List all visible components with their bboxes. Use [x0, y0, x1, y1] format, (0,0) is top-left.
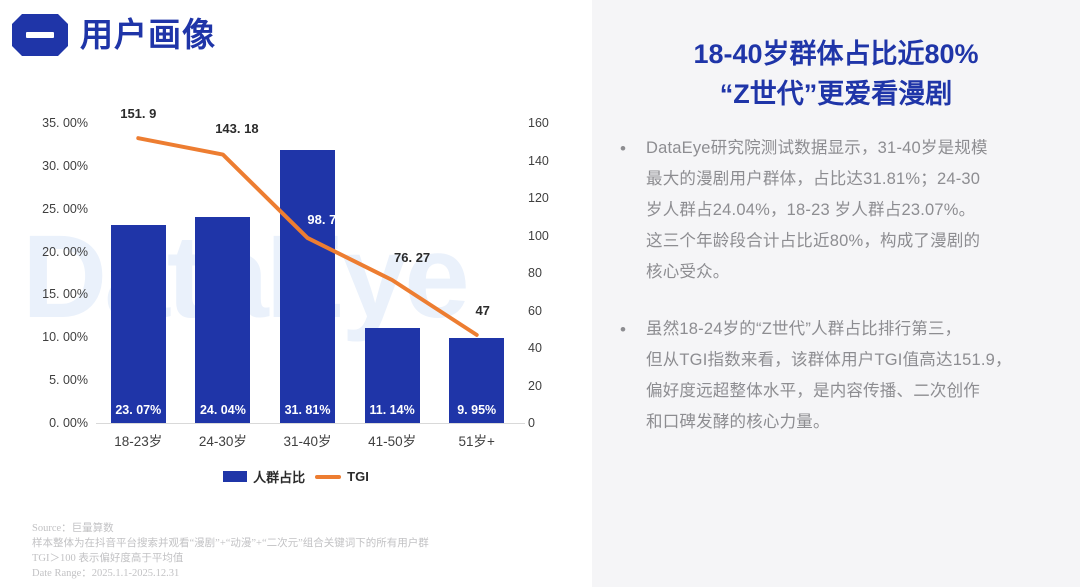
insight-bullet-line: 最大的漫剧用户群体，占比达31.81%；24-30	[646, 164, 1064, 195]
slide-root: 用户画像 DataEye 0. 00%5. 00%10. 00%15. 00%2…	[0, 0, 1080, 587]
chart-line-label: 98. 71	[307, 212, 343, 227]
chart-legend: 人群占比 TGI	[0, 467, 592, 486]
dash-badge-icon	[12, 14, 68, 56]
chart-baseline	[96, 423, 525, 424]
y-axis-right-tick: 20	[528, 379, 542, 393]
y-axis-left-tick: 35. 00%	[42, 116, 88, 130]
chart-line-path	[138, 138, 476, 335]
page-title: 用户画像	[80, 14, 216, 56]
insight-bullet-line: 偏好度远超整体水平，是内容传播、二次创作	[646, 376, 1064, 407]
legend-label-line: TGI	[347, 469, 369, 484]
y-axis-left-tick: 25. 00%	[42, 202, 88, 216]
footnote-line: Source：巨量算数	[32, 521, 572, 536]
footnote-line: Date Range：2025.1.1-2025.12.31	[32, 566, 572, 581]
legend-label-bars: 人群占比	[253, 467, 305, 486]
x-axis-tick-label: 18-23岁	[114, 430, 162, 450]
y-axis-right-tick: 0	[528, 416, 535, 430]
x-axis-tick-label: 51岁+	[458, 430, 494, 450]
insight-bullet-line: DataEye研究院测试数据显示，31-40岁是规模	[646, 133, 1064, 164]
chart-y-axis-right: 020406080100120140160	[528, 123, 578, 423]
chart-plot-area: 23. 07%24. 04%31. 81%11. 14%9. 95%151. 9…	[96, 123, 519, 423]
y-axis-right-tick: 40	[528, 341, 542, 355]
insight-bullet-line: 这三个年龄段合计占比近80%，构成了漫剧的	[646, 226, 1064, 257]
insight-bullet-line: 核心受众。	[646, 257, 1064, 288]
insight-bullet-line: 和口碑发酵的核心力量。	[646, 407, 1064, 438]
y-axis-right-tick: 140	[528, 154, 549, 168]
bullet-dot-icon: •	[616, 314, 646, 438]
insight-panel: 18-40岁群体占比近80% “Z世代”更爱看漫剧 •DataEye研究院测试数…	[592, 0, 1080, 587]
insight-bullet-line: 但从TGI指数来看，该群体用户TGI值高达151.9，	[646, 345, 1064, 376]
insight-title-line-2: “Z世代”更爱看漫剧	[592, 74, 1080, 114]
chart-line-label: 151. 9	[120, 106, 156, 121]
insight-title: 18-40岁群体占比近80% “Z世代”更爱看漫剧	[592, 34, 1080, 114]
insight-bullet-line: 虽然18-24岁的“Z世代”人群占比排行第三，	[646, 314, 1064, 345]
y-axis-right-tick: 60	[528, 304, 542, 318]
insight-bullet-text: 虽然18-24岁的“Z世代”人群占比排行第三，但从TGI指数来看，该群体用户TG…	[646, 314, 1064, 438]
insight-bullet: •DataEye研究院测试数据显示，31-40岁是规模最大的漫剧用户群体，占比达…	[616, 133, 1064, 288]
y-axis-left-tick: 10. 00%	[42, 330, 88, 344]
x-axis-tick-label: 31-40岁	[283, 430, 331, 450]
y-axis-right-tick: 160	[528, 116, 549, 130]
insight-bullet-list: •DataEye研究院测试数据显示，31-40岁是规模最大的漫剧用户群体，占比达…	[616, 133, 1064, 464]
x-axis-tick-label: 41-50岁	[368, 430, 416, 450]
chart-container: DataEye 0. 00%5. 00%10. 00%15. 00%20. 00…	[0, 100, 592, 490]
bullet-dot-icon: •	[616, 133, 646, 288]
footnote-line: TGI＞100 表示偏好度高于平均值	[32, 551, 572, 566]
legend-item-bars: 人群占比	[223, 467, 305, 486]
insight-bullet: •虽然18-24岁的“Z世代”人群占比排行第三，但从TGI指数来看，该群体用户T…	[616, 314, 1064, 438]
legend-line-icon	[315, 475, 341, 479]
y-axis-right-tick: 120	[528, 191, 549, 205]
legend-item-line: TGI	[315, 469, 369, 484]
chart-line-series	[96, 123, 519, 423]
y-axis-left-tick: 20. 00%	[42, 245, 88, 259]
chart-line-label: 143. 18	[215, 121, 258, 136]
chart-x-axis: 18-23岁24-30岁31-40岁41-50岁51岁+	[96, 430, 519, 454]
x-axis-tick-label: 24-30岁	[199, 430, 247, 450]
y-axis-left-tick: 5. 00%	[49, 373, 88, 387]
badge-dash-glyph	[26, 32, 54, 38]
y-axis-left-tick: 15. 00%	[42, 287, 88, 301]
y-axis-right-tick: 80	[528, 266, 542, 280]
chart-line-label: 76. 27	[394, 250, 430, 265]
y-axis-right-tick: 100	[528, 229, 549, 243]
legend-swatch-icon	[223, 471, 247, 482]
chart-y-axis-left: 0. 00%5. 00%10. 00%15. 00%20. 00%25. 00%…	[18, 123, 88, 423]
insight-bullet-line: 岁人群占24.04%，18-23 岁人群占23.07%。	[646, 195, 1064, 226]
insight-bullet-text: DataEye研究院测试数据显示，31-40岁是规模最大的漫剧用户群体，占比达3…	[646, 133, 1064, 288]
y-axis-left-tick: 0. 00%	[49, 416, 88, 430]
chart-line-label: 47	[475, 303, 489, 318]
footnote-line: 样本整体为在抖音平台搜索并观看“漫剧”+“动漫”+“二次元”组合关键词下的所有用…	[32, 536, 572, 551]
source-footnote: Source：巨量算数样本整体为在抖音平台搜索并观看“漫剧”+“动漫”+“二次元…	[32, 521, 572, 581]
y-axis-left-tick: 30. 00%	[42, 159, 88, 173]
insight-title-line-1: 18-40岁群体占比近80%	[592, 34, 1080, 74]
